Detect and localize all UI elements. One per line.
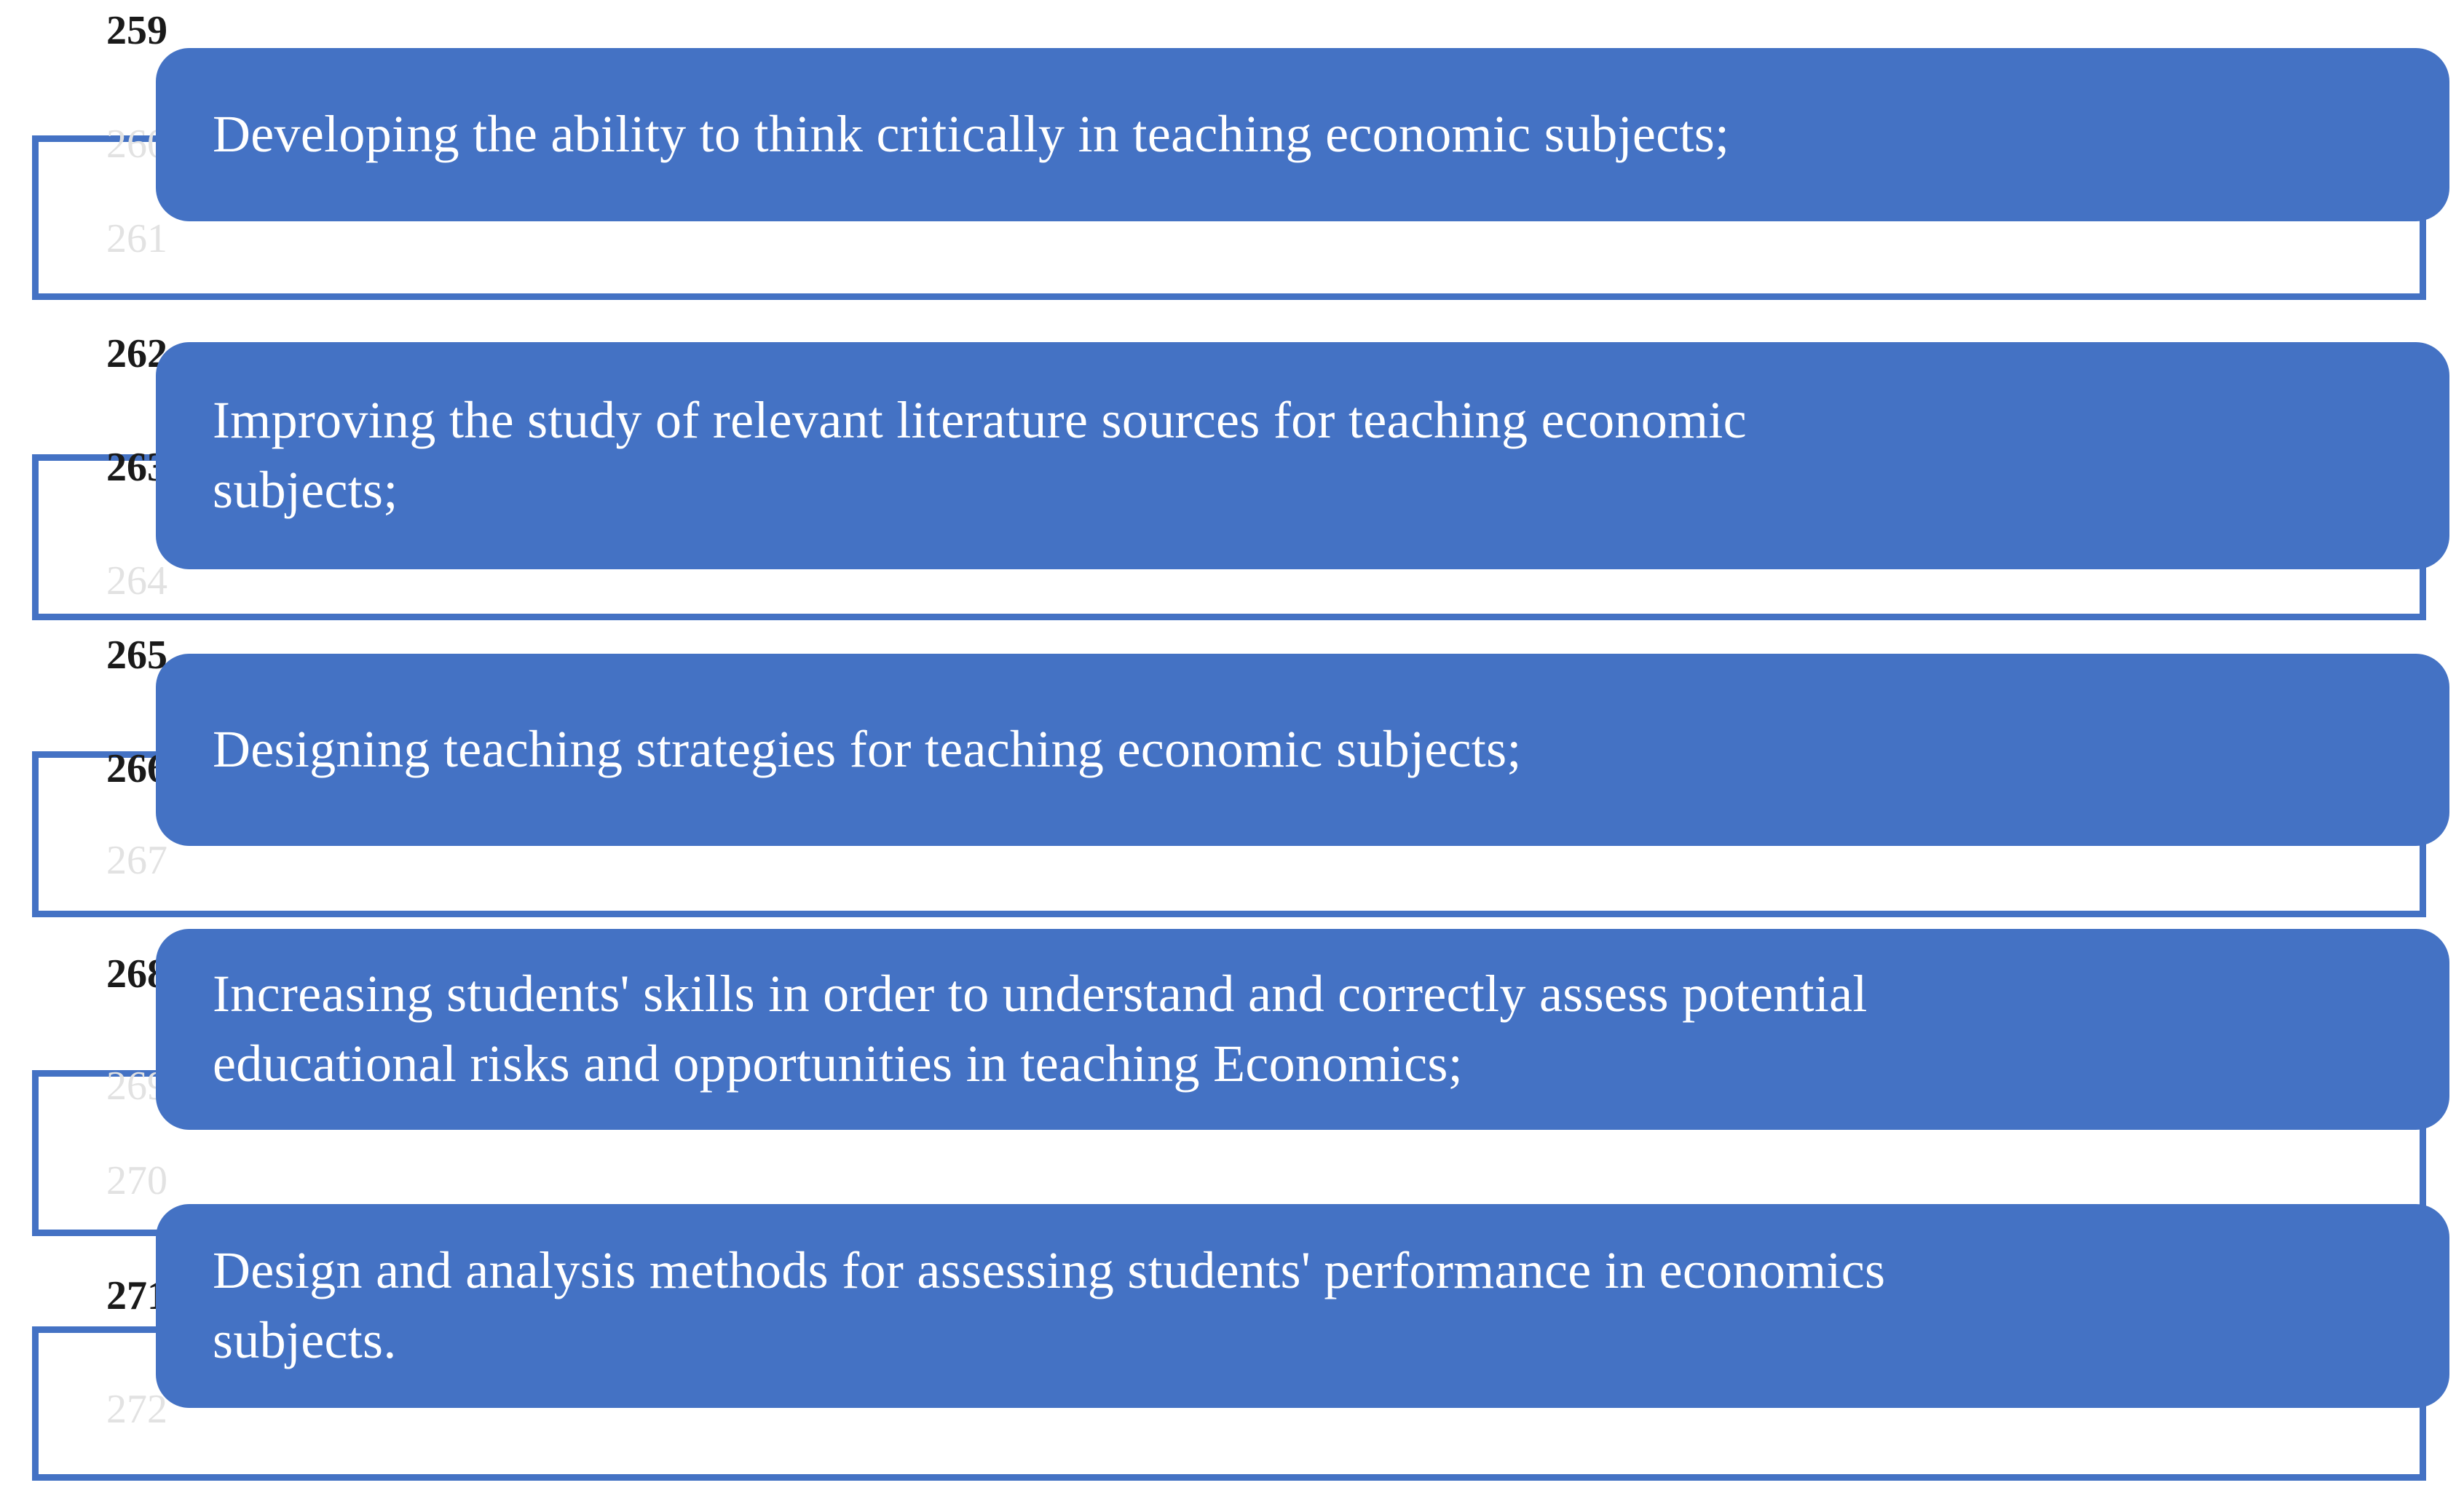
- line-number: 270: [22, 1160, 167, 1201]
- line-number: 265: [22, 635, 167, 676]
- line-number: 268: [22, 954, 167, 994]
- callout-item-4-text: Increasing students' skills in order to …: [213, 959, 1868, 1099]
- line-number: 264: [22, 561, 167, 601]
- line-number: 262: [22, 333, 167, 374]
- line-number: 260: [22, 124, 167, 165]
- line-number: 267: [22, 840, 167, 881]
- callout-item-3[interactable]: Designing teaching strategies for teachi…: [156, 654, 2449, 846]
- line-number: 263: [22, 447, 167, 488]
- callout-item-1-text: Developing the ability to think critical…: [213, 100, 1729, 170]
- callout-item-1[interactable]: Developing the ability to think critical…: [156, 48, 2449, 221]
- line-number: 271: [22, 1275, 167, 1316]
- callout-item-5[interactable]: Design and analysis methods for assessin…: [156, 1204, 2449, 1408]
- line-number: 261: [22, 218, 167, 259]
- callout-item-2-text: Improving the study of relevant literatu…: [213, 386, 1747, 526]
- line-number-gutter: 259 260 261 262 263 264 265 266 267 268 …: [0, 0, 167, 1504]
- line-number: 259: [22, 10, 167, 51]
- figure-canvas: 259 260 261 262 263 264 265 266 267 268 …: [0, 0, 2464, 1504]
- callout-item-3-text: Designing teaching strategies for teachi…: [213, 715, 1522, 785]
- callout-item-5-text: Design and analysis methods for assessin…: [213, 1236, 1885, 1376]
- line-number: 272: [22, 1389, 167, 1430]
- line-number: 266: [22, 748, 167, 789]
- callout-item-2[interactable]: Improving the study of relevant literatu…: [156, 342, 2449, 569]
- callout-item-4[interactable]: Increasing students' skills in order to …: [156, 929, 2449, 1130]
- line-number: 269: [22, 1066, 167, 1107]
